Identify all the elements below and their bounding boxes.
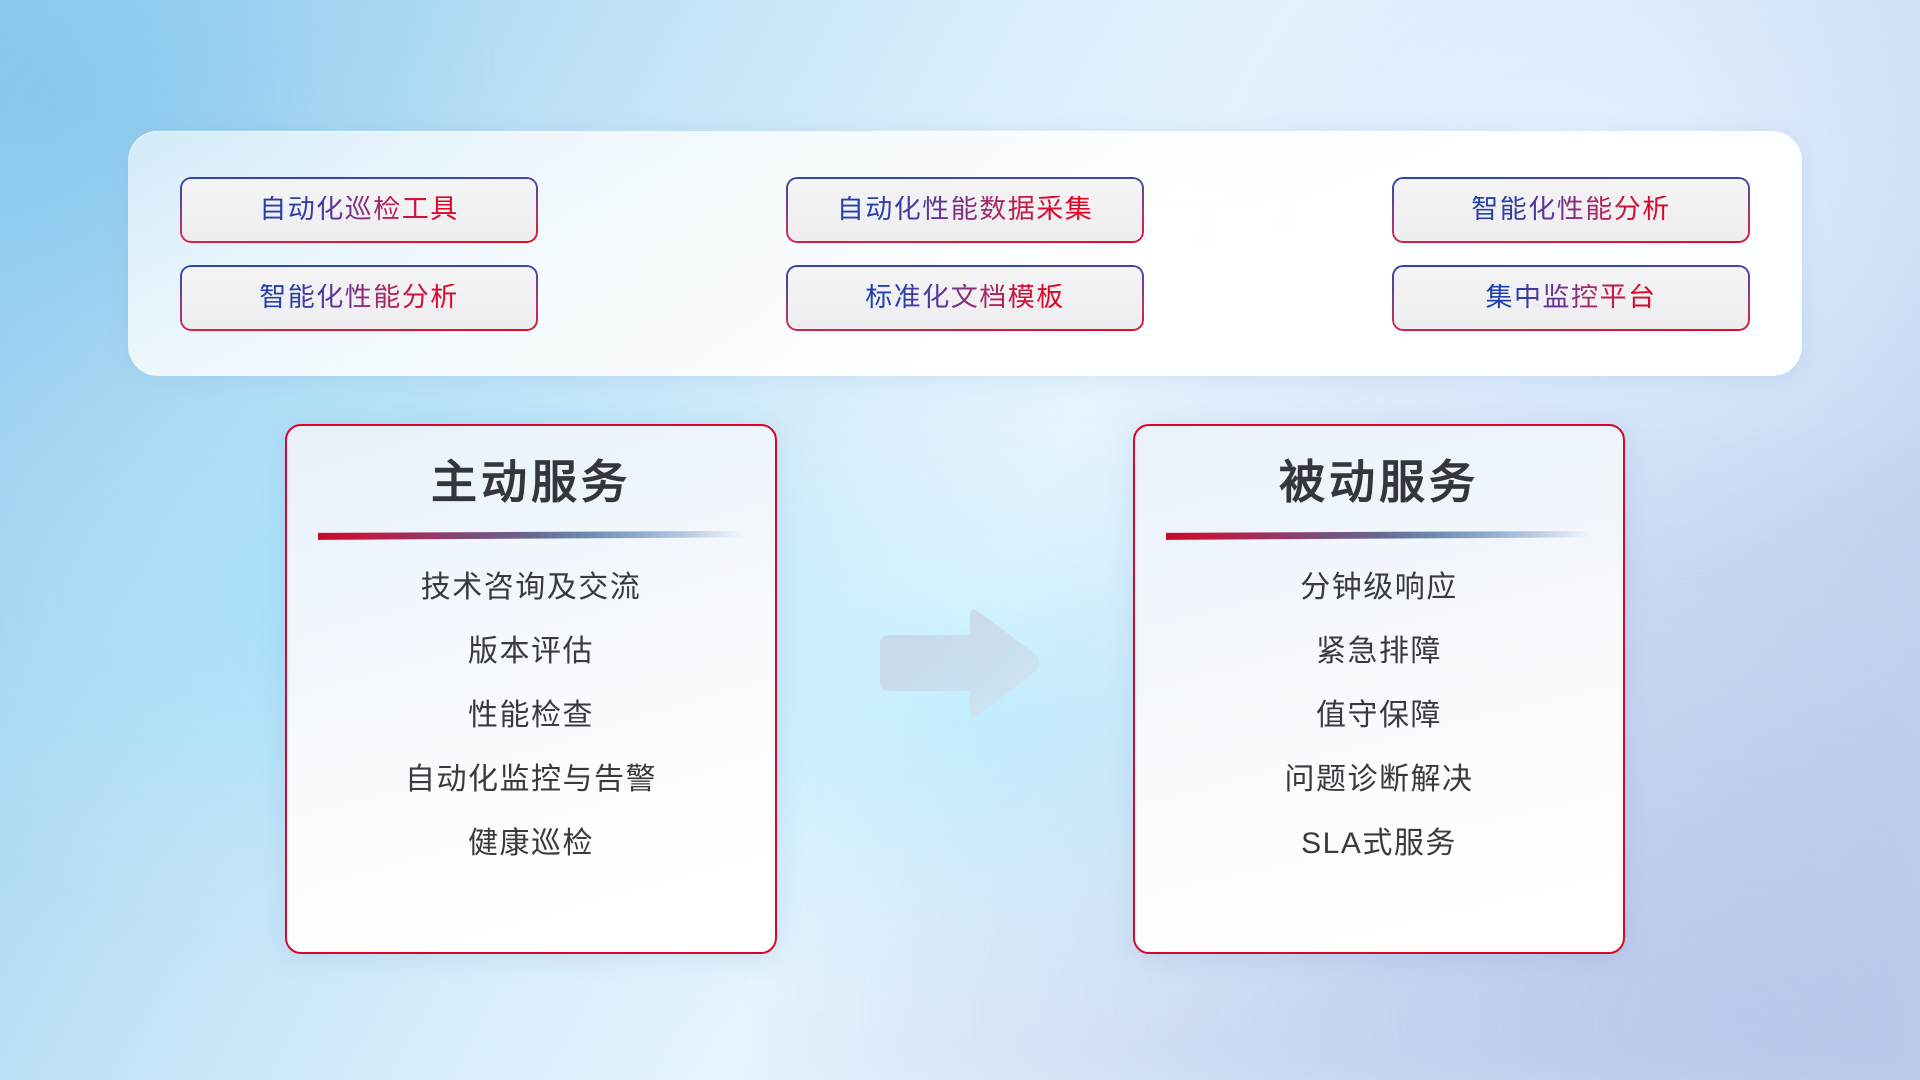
list-item: 紧急排障 [1316, 634, 1442, 670]
capability-row-1: 自动化巡检工具 自动化性能数据采集 智能化性能分析 [180, 177, 1750, 243]
right-arrow-icon [874, 604, 1044, 722]
list-item: 版本评估 [468, 634, 594, 670]
capability-pill-smart-perf-analysis[interactable]: 智能化性能分析 [180, 265, 538, 331]
card-item-list: 分钟级响应 紧急排障 值守保障 问题诊断解决 SLA式服务 [1135, 570, 1623, 862]
service-card-passive: 被动服务 分钟级响应 紧急排障 值守保障 问题诊断解决 SLA式服务 [1133, 424, 1625, 954]
card-divider [318, 531, 744, 540]
card-divider [1166, 531, 1592, 540]
capability-pill-standard-doc-template[interactable]: 标准化文档模板 [786, 265, 1144, 331]
card-title: 主动服务 [431, 456, 631, 509]
card-item-list: 技术咨询及交流 版本评估 性能检查 自动化监控与告警 健康巡检 [287, 570, 775, 862]
capability-pill-auto-perf-data-collection[interactable]: 自动化性能数据采集 [786, 177, 1144, 243]
capability-panel: 自动化巡检工具 自动化性能数据采集 智能化性能分析 智能化性能分析 标准化文档模… [128, 131, 1802, 376]
capability-row-2: 智能化性能分析 标准化文档模板 集中监控平台 [180, 265, 1750, 331]
capability-pill-label: 标准化文档模板 [865, 284, 1065, 311]
list-item: 分钟级响应 [1300, 570, 1458, 606]
list-item: 值守保障 [1316, 698, 1442, 734]
card-divider-gradient-bar [1166, 531, 1592, 540]
capability-pill-central-monitoring-platform[interactable]: 集中监控平台 [1392, 265, 1750, 331]
list-item: 自动化监控与告警 [405, 762, 657, 798]
list-item: 技术咨询及交流 [421, 570, 642, 606]
capability-pill-auto-inspection-tool[interactable]: 自动化巡检工具 [180, 177, 538, 243]
list-item: SLA式服务 [1301, 826, 1457, 862]
capability-pill-label: 智能化性能分析 [1471, 196, 1671, 223]
card-divider-gradient-bar [318, 531, 744, 540]
card-title: 被动服务 [1279, 456, 1479, 509]
capability-pill-label: 智能化性能分析 [259, 284, 459, 311]
capability-pill-label: 自动化性能数据采集 [837, 196, 1094, 223]
list-item: 健康巡检 [468, 826, 594, 862]
capability-pill-label: 自动化巡检工具 [259, 196, 459, 223]
list-item: 性能检查 [468, 698, 594, 734]
list-item: 问题诊断解决 [1285, 762, 1474, 798]
capability-pill-smart-perf-analysis-top[interactable]: 智能化性能分析 [1392, 177, 1750, 243]
service-card-active: 主动服务 技术咨询及交流 版本评估 性能检查 自动化监控与告警 健康巡检 [285, 424, 777, 954]
capability-pill-label: 集中监控平台 [1486, 284, 1657, 311]
